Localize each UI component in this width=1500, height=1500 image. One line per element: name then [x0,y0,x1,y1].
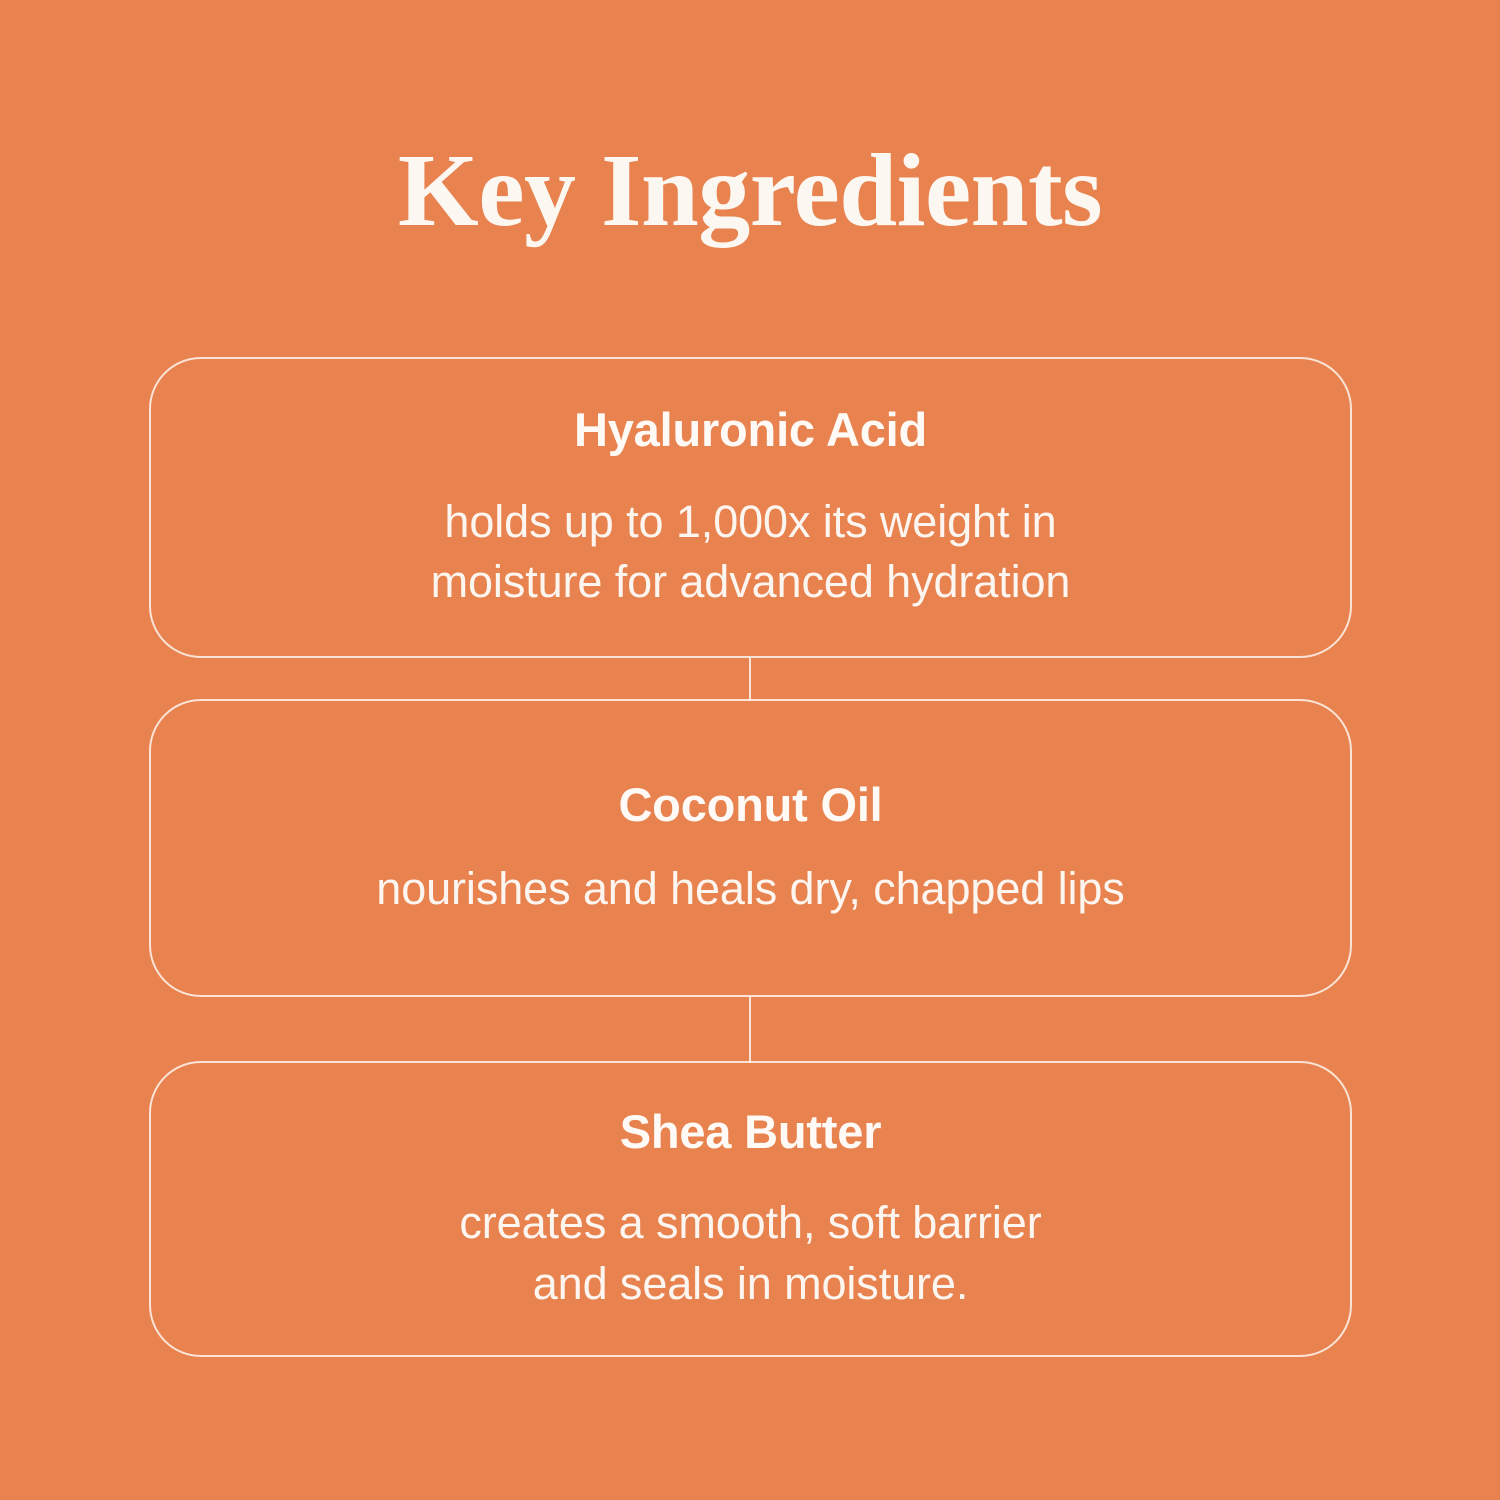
ingredient-description: creates a smooth, soft barrier and seals… [459,1193,1041,1314]
page-title: Key Ingredients [0,138,1500,244]
connector-line-1 [749,658,751,701]
ingredient-card-coconut-oil: Coconut Oil nourishes and heals dry, cha… [149,699,1352,997]
ingredient-card-stack: Hyaluronic Acid holds up to 1,000x its w… [149,357,1352,1357]
ingredient-name: Coconut Oil [618,777,882,832]
connector-line-2 [749,997,751,1063]
ingredient-description-line: and seals in moisture. [459,1254,1041,1314]
key-ingredients-poster: Key Ingredients Hyaluronic Acid holds up… [0,0,1500,1500]
ingredient-description: holds up to 1,000x its weight in moistur… [431,492,1071,613]
ingredient-description-line: nourishes and heals dry, chapped lips [376,859,1124,919]
ingredient-description-line: moisture for advanced hydration [431,552,1071,612]
ingredient-card-hyaluronic-acid: Hyaluronic Acid holds up to 1,000x its w… [149,357,1352,658]
ingredient-name: Shea Butter [620,1104,882,1159]
ingredient-card-shea-butter: Shea Butter creates a smooth, soft barri… [149,1061,1352,1357]
ingredient-name: Hyaluronic Acid [574,402,927,457]
ingredient-description: nourishes and heals dry, chapped lips [376,859,1124,919]
ingredient-description-line: creates a smooth, soft barrier [459,1193,1041,1253]
ingredient-description-line: holds up to 1,000x its weight in [431,492,1071,552]
